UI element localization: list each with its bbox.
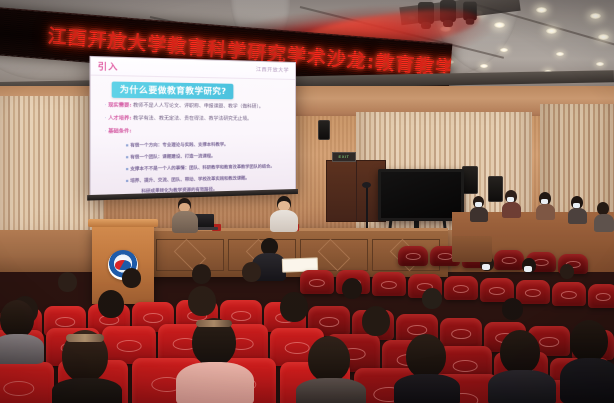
slide-bullet: · 基础条件: bbox=[105, 129, 132, 135]
bullet-dot: ▪ bbox=[125, 142, 128, 147]
speaker-at-table bbox=[172, 198, 198, 232]
ceiling-downlight bbox=[546, 28, 557, 34]
wall-speaker bbox=[488, 176, 503, 202]
audience-member bbox=[594, 202, 614, 230]
slide-sub-bullet: ▪ 培养、提升、交流、团队、带动、学校改革实践和教改课题。 bbox=[125, 176, 249, 184]
slide-sub-bullet-text: 有很一个方向：专业理论与实践、支撑本科教学。 bbox=[130, 141, 228, 147]
torso bbox=[594, 214, 614, 232]
ceiling-downlight bbox=[598, 34, 609, 40]
audience-member bbox=[360, 306, 396, 348]
audience-member-foreground bbox=[180, 318, 250, 403]
slide-bullet-value: 教学有法、教无定法、贵在得法、教学法研究无止境。 bbox=[133, 116, 252, 122]
exit-sign: EXIT bbox=[332, 152, 356, 162]
ceiling-downlight bbox=[480, 64, 488, 68]
slide-sub-bullet: ▪ 有很一个方向：专业理论与实践、支撑本科教学。 bbox=[125, 143, 228, 149]
audience-member bbox=[520, 258, 540, 280]
audience-member-foreground bbox=[492, 330, 550, 403]
slide-sub-bullet-text: 培养、提升、交流、团队、带动、学校改革实践和教改课题。 bbox=[130, 175, 249, 183]
head bbox=[500, 330, 540, 374]
projection-screen: 引入 江西开放大学 为什么要做教育教学研究? · 现实需要: 教师不是人人写论文… bbox=[90, 56, 296, 196]
head bbox=[502, 298, 523, 320]
head bbox=[58, 272, 77, 292]
bullet-dot: · bbox=[105, 129, 107, 134]
moderator-at-table bbox=[270, 196, 298, 232]
exit-sign-text: EXIT bbox=[339, 155, 350, 159]
hair-accessory bbox=[196, 320, 232, 327]
head bbox=[122, 268, 141, 288]
head bbox=[308, 336, 350, 382]
audience-member bbox=[56, 272, 82, 300]
slide-sub-bullet: ▪ 支撑本不不是一个人的事情：团队、科研教学和教育改革教学团队的结合。 bbox=[125, 164, 274, 172]
audience-member bbox=[500, 298, 530, 330]
projection-screen-surface: 引入 江西开放大学 为什么要做教育教学研究? · 现实需要: 教师不是人人写论文… bbox=[90, 56, 296, 196]
head bbox=[362, 306, 390, 336]
torso bbox=[0, 334, 44, 364]
microphone-head-icon bbox=[362, 182, 371, 188]
seat[interactable] bbox=[444, 276, 478, 300]
slide-bullet-key: 基础条件: bbox=[108, 129, 131, 134]
ceiling-downlight bbox=[590, 13, 601, 19]
slide-bullet-value: 教师不是人人写论文、评职称、申报课题、教学（做科研）。 bbox=[133, 103, 263, 109]
exit-door[interactable] bbox=[326, 160, 386, 222]
wall-speaker bbox=[318, 120, 330, 140]
audience-member-foreground bbox=[58, 330, 116, 403]
head bbox=[242, 262, 261, 282]
torso bbox=[560, 358, 614, 403]
bullet-dot: · bbox=[105, 103, 107, 108]
slide-sub-bullet: ▪ 有很一个团队：课题建设、打造一流课程。 bbox=[125, 154, 215, 160]
bullet-dot: ▪ bbox=[125, 166, 128, 171]
torso bbox=[568, 208, 587, 224]
conference-hall-photo: 江西开放大学教育科学研究学术沙龙:教育教学课题申报指导 EXIT 引入 江西开放… bbox=[0, 0, 614, 403]
wall-speaker bbox=[462, 166, 478, 194]
torso bbox=[270, 210, 298, 232]
torso bbox=[394, 374, 460, 403]
audience-member-foreground bbox=[398, 334, 454, 403]
ceiling-downlight bbox=[556, 52, 564, 56]
audience-member bbox=[470, 196, 488, 220]
audience-member bbox=[96, 290, 130, 330]
seat[interactable] bbox=[372, 272, 406, 296]
seat[interactable] bbox=[398, 246, 428, 266]
slide-title: 为什么要做教育教学研究? bbox=[112, 82, 234, 100]
audience-member bbox=[558, 264, 578, 286]
audience-member bbox=[502, 190, 521, 216]
torso bbox=[536, 204, 555, 220]
bullet-dot: ▪ bbox=[125, 178, 128, 183]
head bbox=[280, 292, 308, 322]
slide-bullet: · 人才培养: 教学有法、教无定法、贵在得法、教学法研究无止境。 bbox=[105, 116, 252, 122]
head bbox=[188, 286, 216, 316]
audience-member bbox=[536, 192, 555, 218]
head bbox=[560, 264, 574, 279]
torso bbox=[176, 362, 254, 403]
ceiling-downlight bbox=[536, 7, 547, 13]
audience-member bbox=[278, 292, 314, 334]
slide-bullet-key: 人才培养: bbox=[108, 116, 131, 121]
head bbox=[98, 290, 124, 318]
audience-member-foreground bbox=[0, 300, 40, 360]
head bbox=[422, 288, 442, 309]
slide-bullet: · 现实需要: 教师不是人人写论文、评职称、申报课题、教学（做科研）。 bbox=[105, 103, 264, 110]
ceiling-downlight bbox=[596, 62, 604, 66]
hair-accessory bbox=[66, 334, 104, 342]
torso bbox=[172, 211, 198, 233]
seat[interactable] bbox=[588, 284, 614, 308]
seat[interactable] bbox=[300, 270, 334, 294]
podium-top bbox=[88, 219, 158, 227]
audience-member bbox=[568, 196, 587, 222]
bullet-dot: ▪ bbox=[125, 154, 128, 159]
audience-member bbox=[340, 278, 368, 308]
seat[interactable] bbox=[0, 362, 54, 403]
table-panel-diamond bbox=[318, 239, 351, 272]
audience-member bbox=[420, 288, 448, 318]
head bbox=[570, 320, 608, 362]
audience-member bbox=[240, 262, 266, 290]
audience-member-foreground bbox=[300, 336, 360, 403]
slide-sub-bullet-text: 有很一个团队：课题建设、打造一流课程。 bbox=[130, 153, 215, 159]
slide-section-label: 引入 bbox=[98, 60, 119, 72]
torso bbox=[296, 378, 366, 403]
face-mask bbox=[524, 266, 532, 272]
torso bbox=[470, 207, 488, 222]
slide-sub-bullet-text: 支撑本不不是一个人的事情：团队、科研教学和教育改革教学团队的结合。 bbox=[130, 163, 274, 171]
wall-monitor-screen bbox=[381, 172, 461, 218]
head bbox=[406, 334, 446, 378]
head bbox=[192, 264, 211, 284]
bullet-dot: · bbox=[105, 116, 107, 121]
audience-member-foreground bbox=[560, 320, 614, 403]
face-mask bbox=[482, 264, 490, 270]
aisle-rail bbox=[452, 236, 492, 262]
slide-brand-logo: 江西开放大学 bbox=[256, 66, 289, 74]
head bbox=[342, 278, 362, 299]
torso bbox=[52, 378, 122, 403]
head bbox=[0, 300, 34, 338]
slide-bullet-key: 现实需要: bbox=[108, 103, 131, 109]
torso bbox=[502, 202, 521, 218]
torso bbox=[488, 370, 556, 403]
